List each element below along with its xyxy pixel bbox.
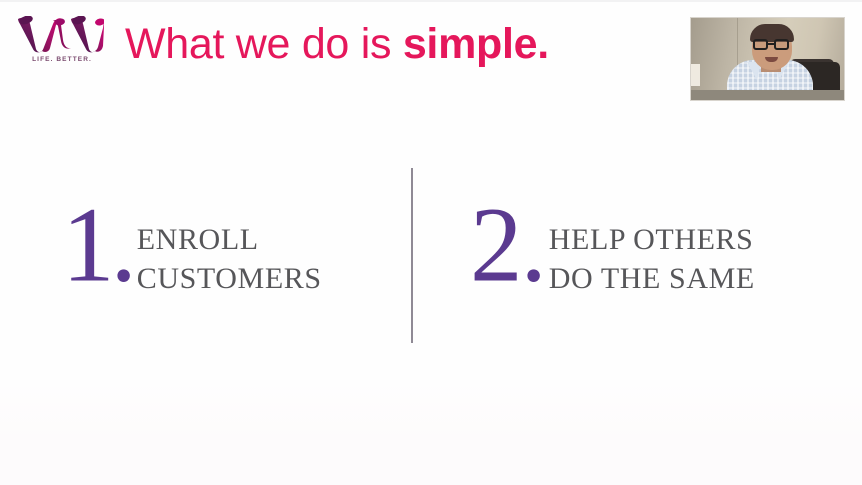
logo-tagline: LIFE. BETTER. bbox=[20, 56, 104, 63]
presenter-video-feed[interactable] bbox=[690, 17, 845, 101]
step-2-text: HELP OTHERS DO THE SAME bbox=[549, 220, 755, 298]
step-item-1: 1. ENROLL CUSTOMERS bbox=[62, 202, 322, 298]
step-item-2: 2. HELP OTHERS DO THE SAME bbox=[470, 202, 755, 298]
slide-lower-blank-area bbox=[0, 375, 862, 485]
top-hairline-divider bbox=[0, 0, 862, 2]
column-divider bbox=[411, 168, 413, 343]
video-desk-edge bbox=[691, 90, 844, 100]
presenter-glasses-left bbox=[753, 39, 768, 50]
video-left-object bbox=[691, 64, 700, 86]
presentation-slide: LIFE. BETTER. What we do is simple. 1. bbox=[0, 0, 862, 485]
step-2-number: 2. bbox=[470, 196, 545, 293]
presenter-glasses-bridge bbox=[768, 43, 774, 45]
presenter-video-frame bbox=[691, 18, 844, 100]
step-1-number: 1. bbox=[62, 196, 133, 293]
slide-title-plain: What we do is bbox=[125, 20, 403, 68]
slide-title-period: . bbox=[537, 20, 549, 68]
viv-logo-icon bbox=[16, 16, 104, 54]
step-1-text: ENROLL CUSTOMERS bbox=[137, 220, 322, 298]
step-1-line-1: ENROLL bbox=[137, 220, 322, 259]
viv-logo: LIFE. BETTER. bbox=[16, 16, 108, 72]
slide-title-emphasis: simple bbox=[403, 20, 537, 68]
step-1-line-2: CUSTOMERS bbox=[137, 259, 322, 298]
slide-title: What we do is simple. bbox=[125, 18, 549, 70]
presenter-glasses-right bbox=[774, 39, 789, 50]
step-2-line-2: DO THE SAME bbox=[549, 259, 755, 298]
video-wall-seam bbox=[737, 18, 738, 69]
step-2-line-1: HELP OTHERS bbox=[549, 220, 755, 259]
